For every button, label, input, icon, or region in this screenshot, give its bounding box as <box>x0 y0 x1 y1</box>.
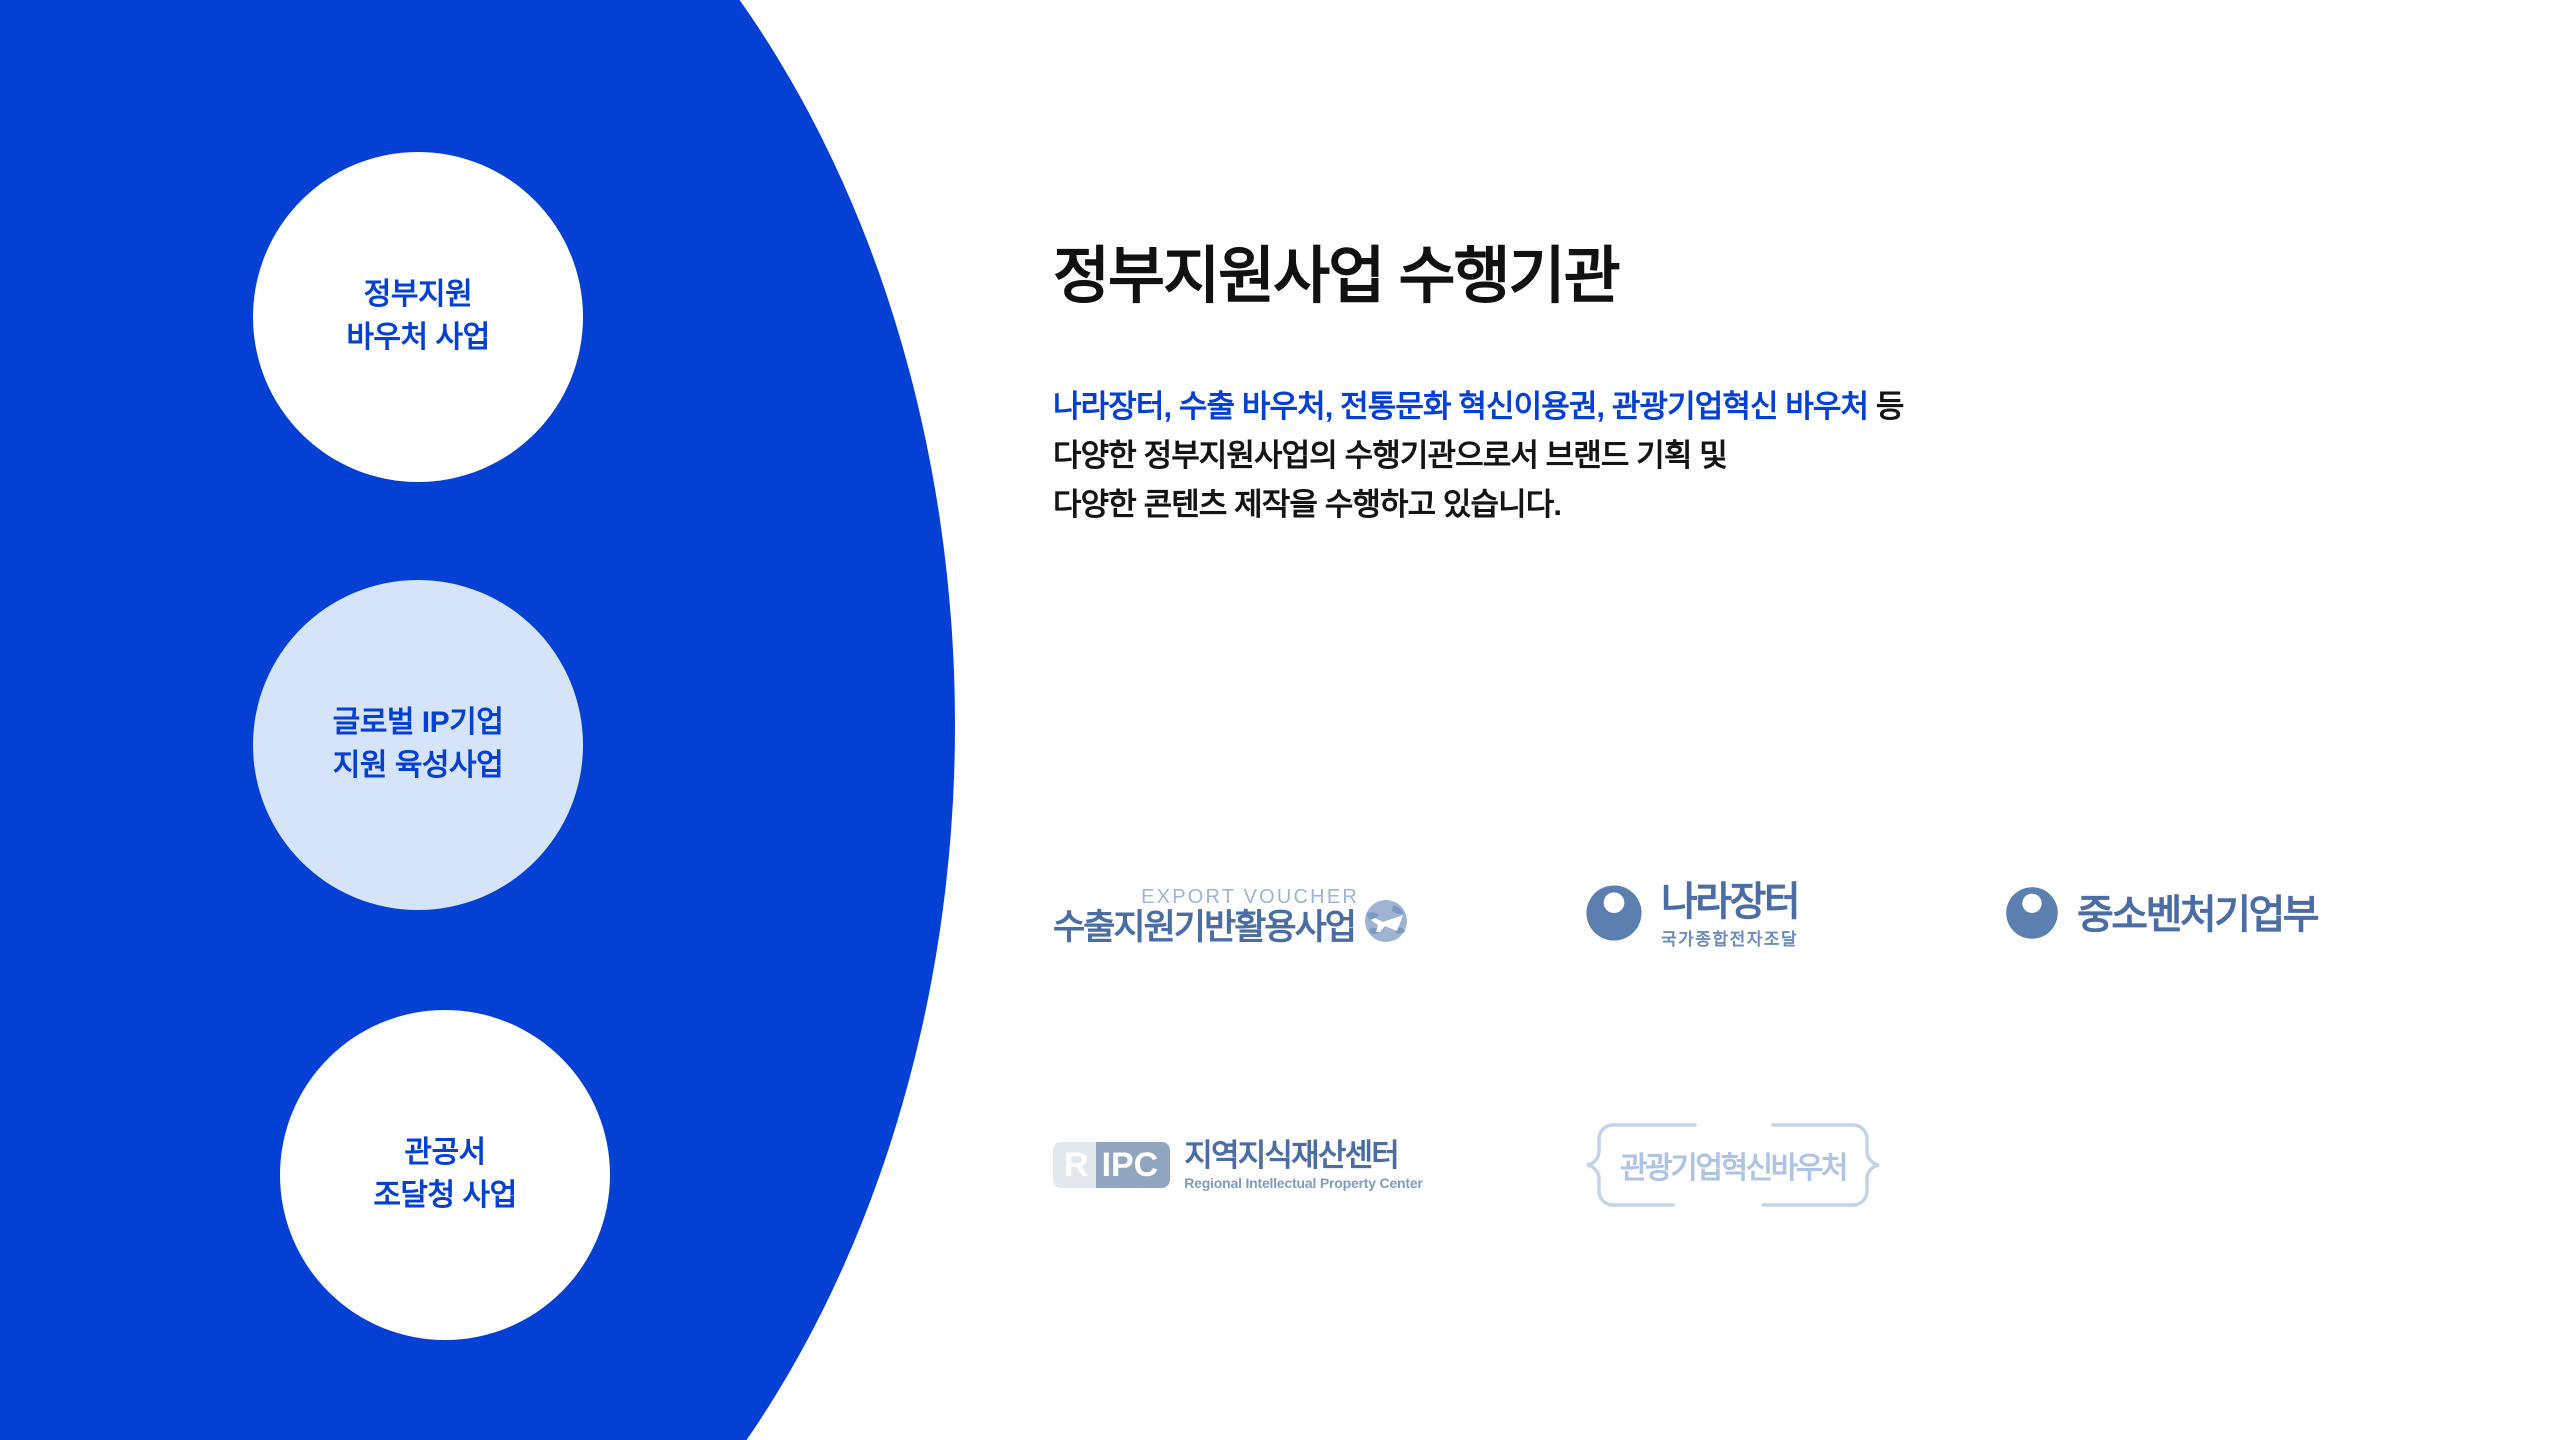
lead-line-3: 다양한 콘텐츠 제작을 수행하고 있습니다. <box>1053 481 1904 530</box>
logo-ripc-sub: Regional Intellectual Property Center <box>1184 1175 1422 1191</box>
globe-airplane-icon <box>1363 898 1409 944</box>
program-bubble-government-voucher[interactable]: 정부지원 바우처 사업 <box>253 152 583 482</box>
bubble-line-1: 관공서 <box>404 1132 485 1175</box>
logo-narajangteo-main: 나라장터 <box>1661 881 1798 923</box>
bubble-line-2: 조달청 사업 <box>373 1175 516 1218</box>
lead-highlight: 나라장터, 수출 바우처, 전통문화 혁신이용권, 관광기업혁신 바우처 <box>1053 389 1868 424</box>
logo-ripc-main: 지역지식재산센터 <box>1184 1139 1422 1173</box>
partner-logo-grid: EXPORT VOUCHER 수출지원기반활용사업 <box>1053 790 2463 1290</box>
bubble-line-2: 바우처 사업 <box>346 317 489 360</box>
bracket-frame-icon <box>1583 1198 1883 1215</box>
lead-line-1: 나라장터, 수출 바우처, 전통문화 혁신이용권, 관광기업혁신 바우처 등 <box>1053 383 1904 432</box>
ripc-badge-letters-ipc: IPC <box>1096 1142 1171 1188</box>
bubble-line-1: 정부지원 <box>364 274 472 317</box>
logo-export-voucher-main: 수출지원기반활용사업 <box>1053 910 1355 945</box>
bubble-line-1: 글로벌 IP기업 <box>333 702 504 745</box>
lead-line-2: 다양한 정부지원사업의 수행기관으로서 브랜드 기획 및 <box>1053 432 1904 481</box>
page-title: 정부지원사업 수행기관 <box>1053 225 1619 315</box>
ripc-badge-icon: RIPC <box>1053 1142 1170 1188</box>
logo-export-voucher[interactable]: EXPORT VOUCHER 수출지원기반활용사업 <box>1053 860 1583 970</box>
taegeuk-emblem-icon <box>1583 882 1645 949</box>
slide-root: 정부지원 바우처 사업 글로벌 IP기업 지원 육성사업 관공서 조달청 사업 … <box>0 0 2560 1440</box>
logo-mss[interactable]: 중소벤처기업부 <box>2003 860 2423 970</box>
lead-line-1-tail: 등 <box>1868 389 1903 424</box>
logo-mss-main: 중소벤처기업부 <box>2077 894 2317 936</box>
logo-export-voucher-sub: EXPORT VOUCHER <box>1141 886 1359 909</box>
program-bubble-group: 정부지원 바우처 사업 글로벌 IP기업 지원 육성사업 관공서 조달청 사업 <box>0 0 960 1440</box>
main-content: 정부지원사업 수행기관 나라장터, 수출 바우처, 전통문화 혁신이용권, 관광… <box>1053 0 2483 1440</box>
program-bubble-global-ip[interactable]: 글로벌 IP기업 지원 육성사업 <box>253 580 583 910</box>
logo-tourism-voucher[interactable]: 관광기업혁신바우처 <box>1583 1110 2003 1220</box>
logo-tourism-voucher-main: 관광기업혁신바우처 <box>1620 1143 1846 1187</box>
program-bubble-public-procurement[interactable]: 관공서 조달청 사업 <box>280 1010 610 1340</box>
logo-narajangteo-sub: 국가종합전자조달 <box>1661 925 1798 950</box>
lead-paragraph: 나라장터, 수출 바우처, 전통문화 혁신이용권, 관광기업혁신 바우처 등 다… <box>1053 383 1904 530</box>
logo-ripc[interactable]: RIPC 지역지식재산센터 Regional Intellectual Prop… <box>1053 1110 1583 1220</box>
taegeuk-emblem-icon <box>2003 884 2061 947</box>
bubble-line-2: 지원 육성사업 <box>333 745 503 788</box>
ripc-badge-letter-r: R <box>1053 1142 1096 1188</box>
logo-narajangteo[interactable]: 나라장터 국가종합전자조달 <box>1583 860 2003 970</box>
